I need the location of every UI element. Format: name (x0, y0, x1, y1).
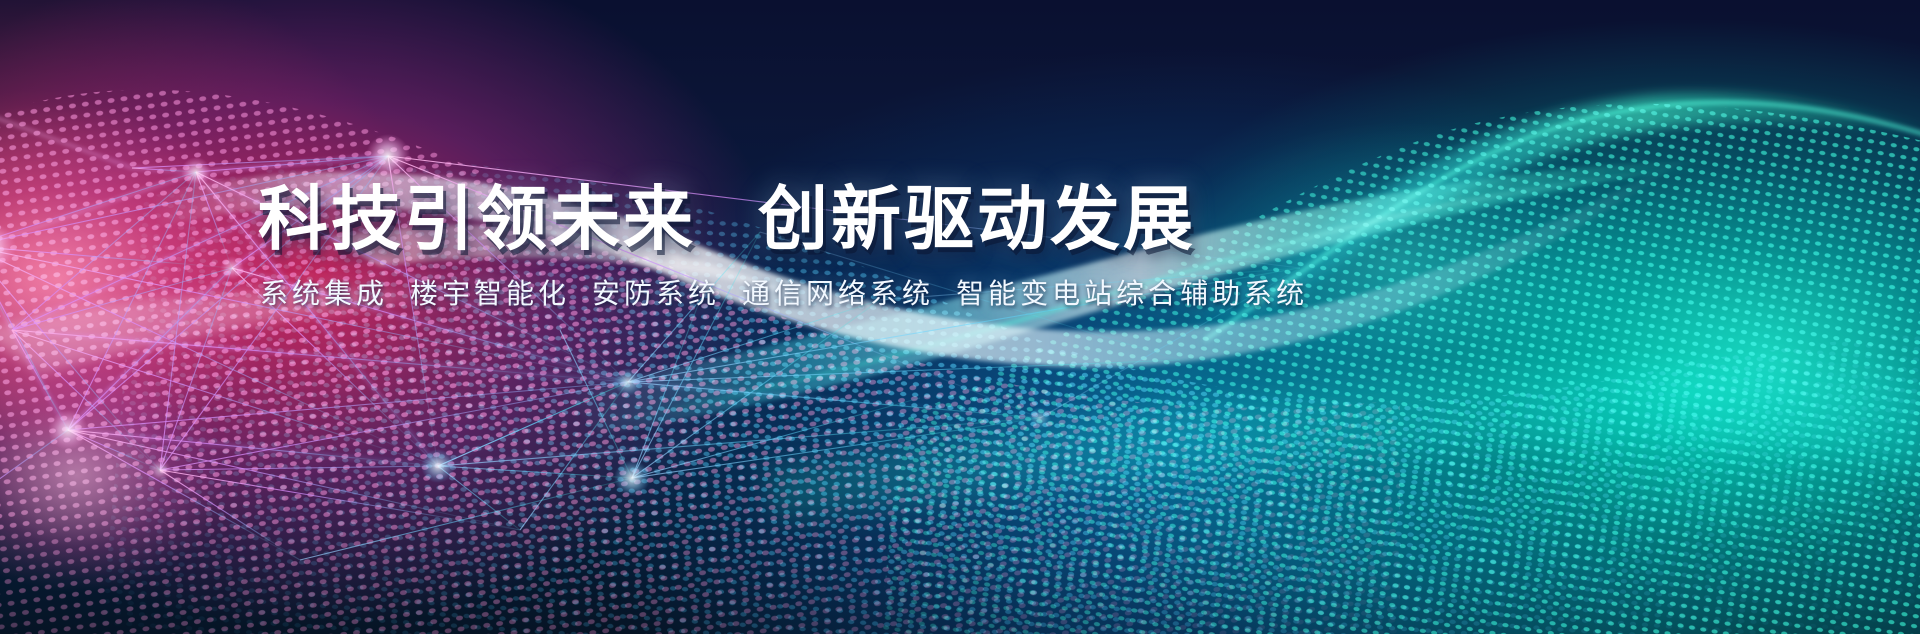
headline-part-two: 创新驱动发展 (758, 178, 1196, 260)
subtitle-item-1: 楼宇智能化 (410, 277, 570, 310)
subtitle-item-3: 通信网络系统 (742, 277, 934, 310)
page-title: 科技引领未来创新驱动发展 (258, 184, 1598, 254)
network-lines (0, 0, 1920, 634)
subtitle-item-2: 安防系统 (592, 277, 720, 310)
tech-banner: 科技引领未来创新驱动发展 系统集成楼宇智能化安防系统通信网络系统智能变电站综合辅… (0, 0, 1920, 634)
subtitle-item-0: 系统集成 (260, 277, 388, 310)
copy-block: 科技引领未来创新驱动发展 系统集成楼宇智能化安防系统通信网络系统智能变电站综合辅… (258, 184, 1598, 308)
headline-part-one: 科技引领未来 (258, 178, 696, 260)
subtitle-list: 系统集成楼宇智能化安防系统通信网络系统智能变电站综合辅助系统 (260, 280, 1598, 308)
subtitle-item-4: 智能变电站综合辅助系统 (956, 277, 1308, 310)
